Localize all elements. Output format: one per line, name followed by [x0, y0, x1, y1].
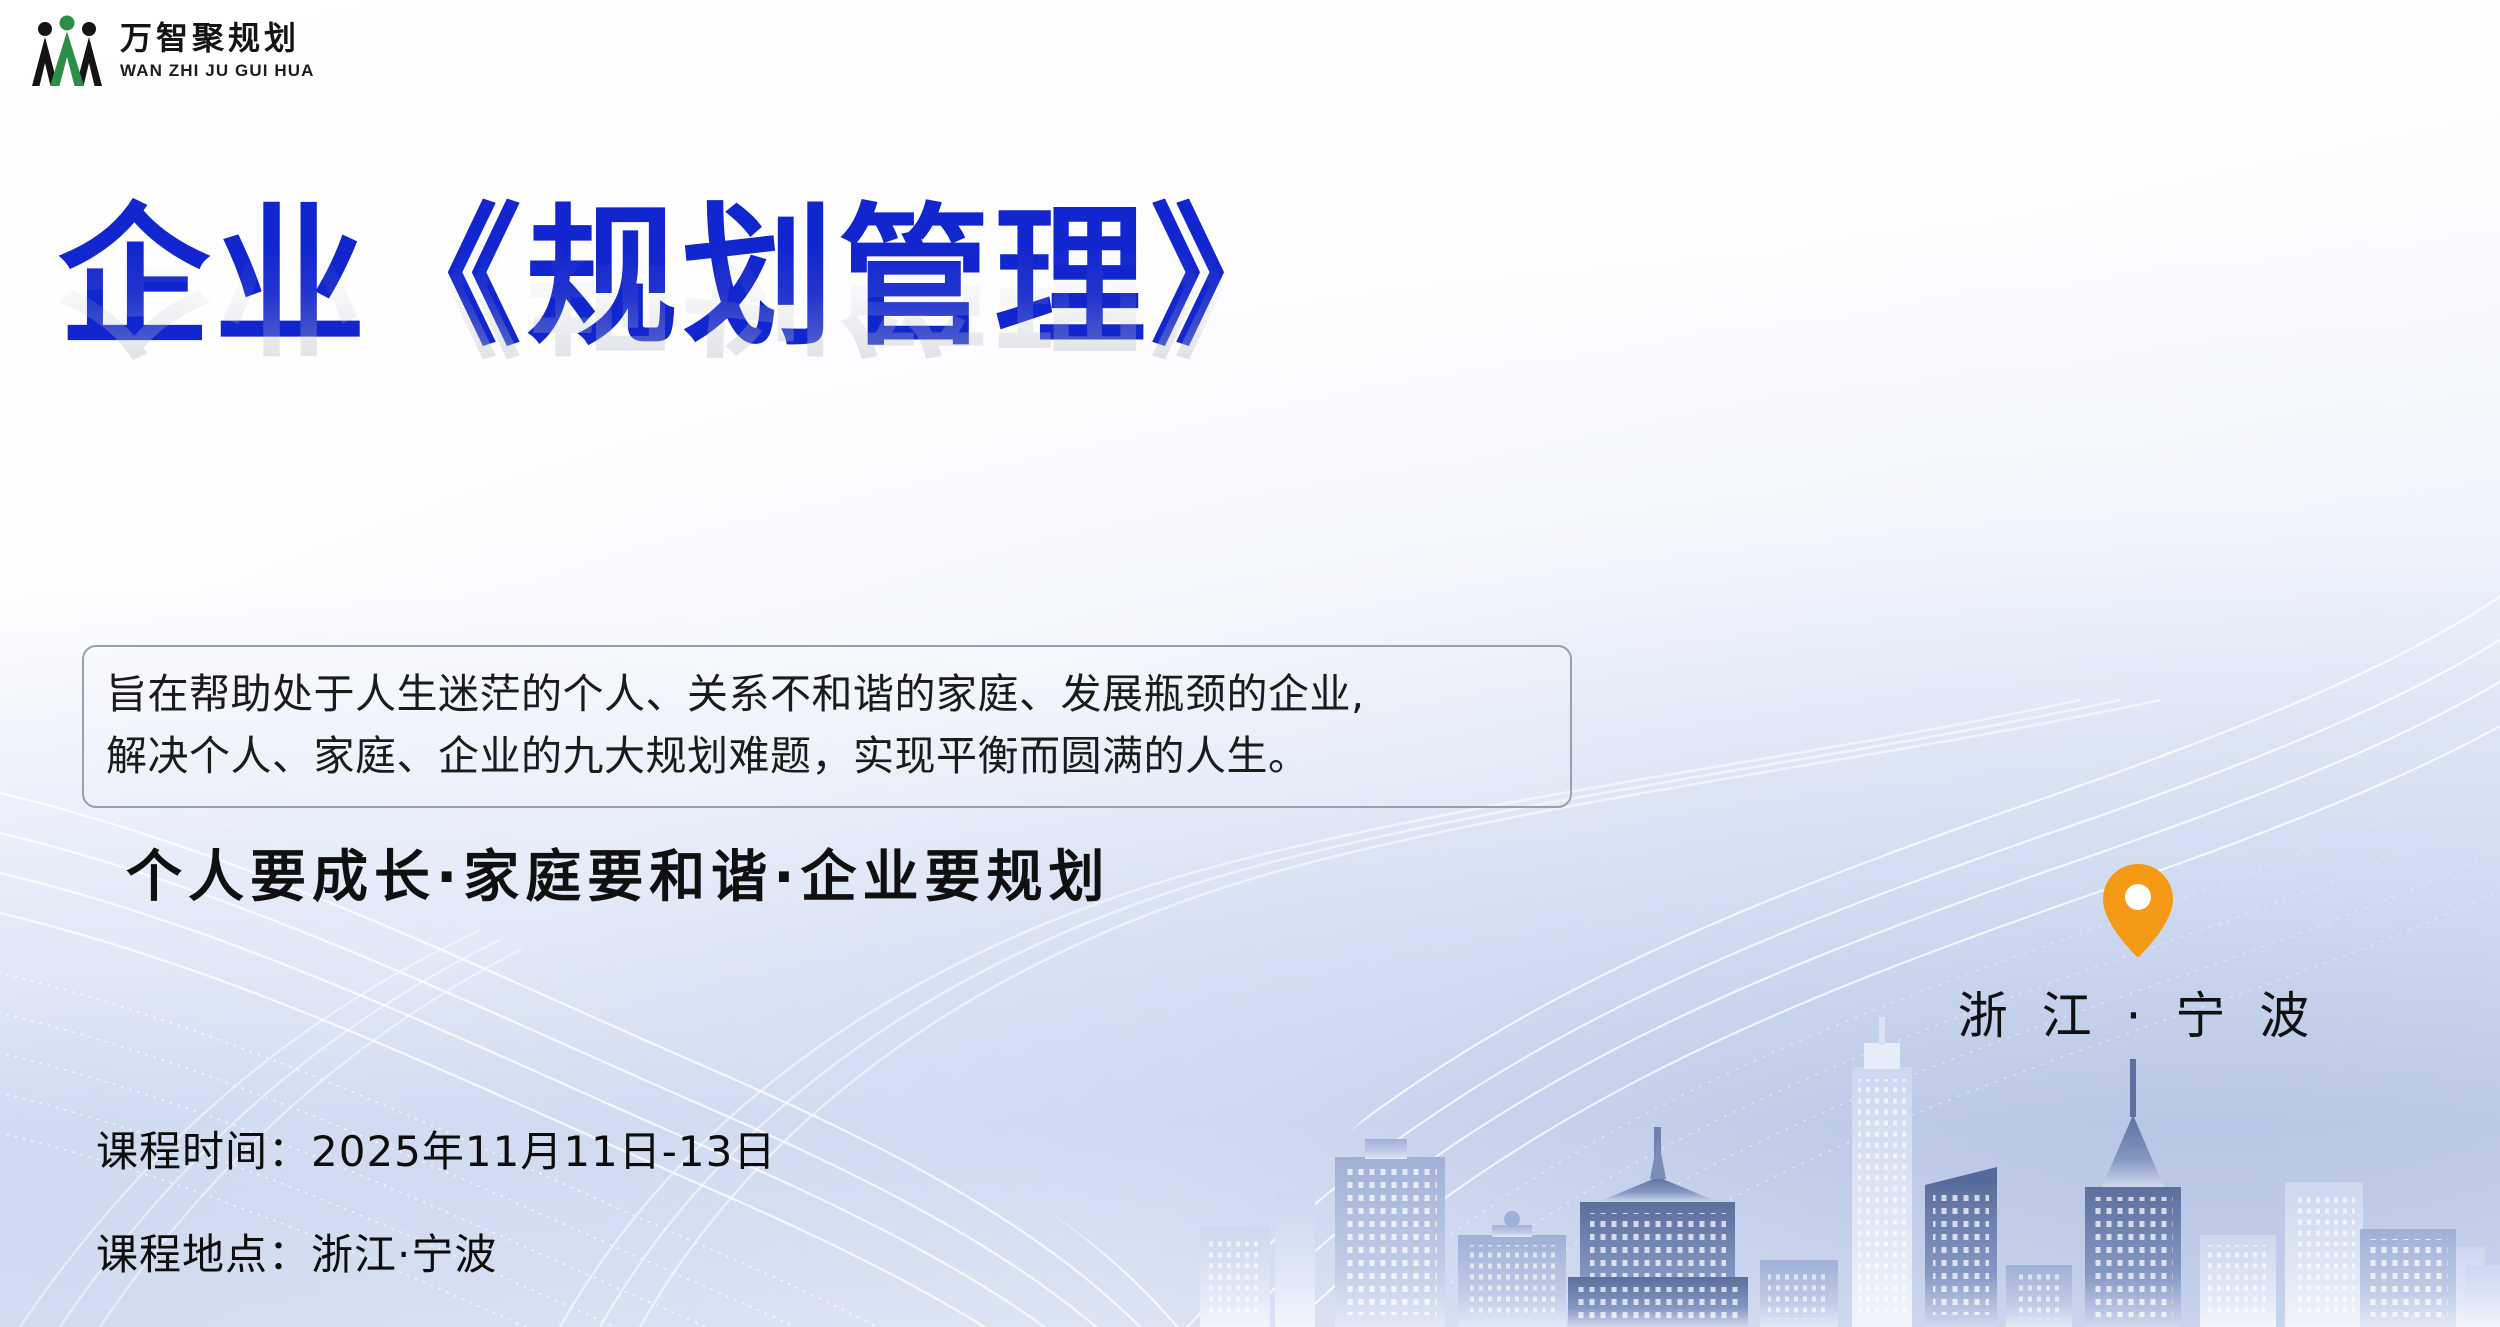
brand-name-cn: 万智聚规划 [120, 22, 315, 54]
brand-name-en: WAN ZHI JU GUI HUA [120, 62, 315, 79]
poster-canvas: 万智聚规划 WAN ZHI JU GUI HUA 企业《规划管理》 企业《规划管… [0, 0, 2500, 1327]
brand-logo-text: 万智聚规划 WAN ZHI JU GUI HUA [120, 22, 315, 79]
page-title-reflection: 企业《规划管理》 [58, 198, 1658, 362]
course-info-block: 课程时间：2025年11月11日-13日 课程地点：浙江·宁波 [96, 1118, 776, 1282]
description-box: 旨在帮助处于人生迷茫的个人、关系不和谐的家庭、发展瓶颈的企业, 解决个人、家庭、… [82, 645, 1572, 808]
course-place: 课程地点：浙江·宁波 [96, 1221, 776, 1282]
description-line-2: 解决个人、家庭、企业的九大规划难题，实现平衡而圆满的人生。 [106, 725, 1548, 787]
location-name: 浙 江 · 宁 波 [1958, 976, 2318, 1048]
map-pin-icon [2099, 862, 2177, 958]
course-time: 课程时间：2025年11月11日-13日 [96, 1118, 776, 1179]
location-badge: 浙 江 · 宁 波 [1948, 862, 2328, 1048]
slogan-text: 个人要成长·家庭要和谐·企业要规划 [126, 832, 1111, 913]
hero-title-block: 企业《规划管理》 企业《规划管理》 [58, 196, 1658, 476]
description-line-1: 旨在帮助处于人生迷茫的个人、关系不和谐的家庭、发展瓶颈的企业, [106, 663, 1548, 725]
brand-logo: 万智聚规划 WAN ZHI JU GUI HUA [28, 14, 315, 86]
three-people-logo-icon [28, 14, 106, 86]
